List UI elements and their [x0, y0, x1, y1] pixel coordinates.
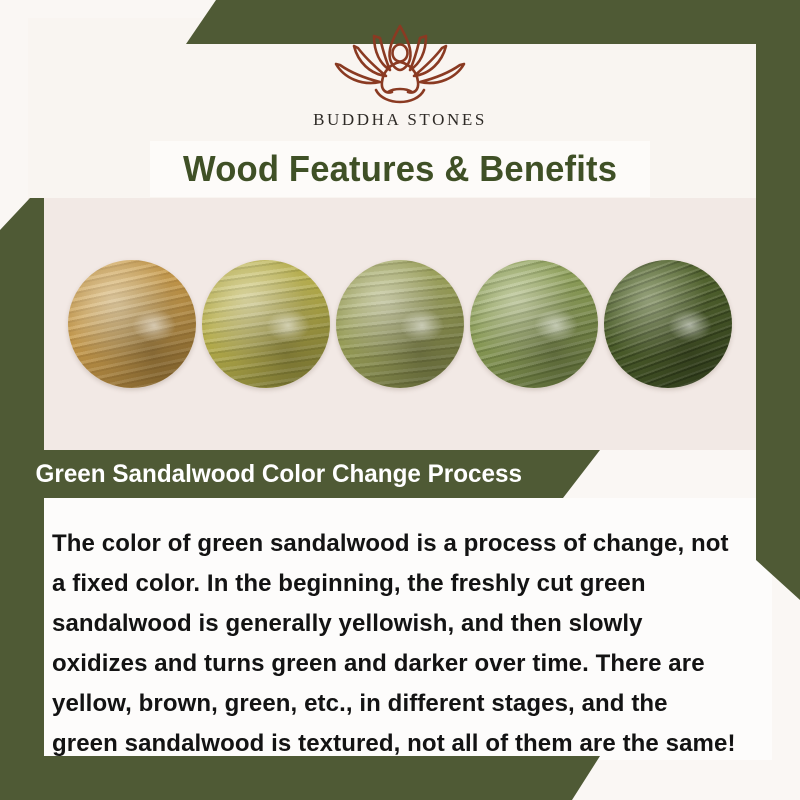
brand-logo: BUDDHA STONES — [0, 20, 800, 130]
section-title: Green Sandalwood Color Change Process — [36, 460, 522, 489]
bead-gallery — [28, 198, 772, 450]
bead-stage-2 — [202, 260, 330, 388]
bead-stage-3 — [336, 260, 464, 388]
bead-highlight — [668, 309, 712, 342]
bead-stage-1 — [68, 260, 196, 388]
page-title: Wood Features & Benefits — [183, 148, 617, 190]
section-banner: Green Sandalwood Color Change Process — [0, 450, 600, 498]
bead-highlight — [534, 309, 578, 342]
bead-highlight — [400, 309, 444, 342]
infographic-card: BUDDHA STONES Wood Features & Benefits — [0, 0, 800, 800]
bead-stage-5 — [604, 260, 732, 388]
bead-highlight — [266, 309, 310, 342]
lotus-meditation-figure-icon — [310, 20, 490, 108]
bead-highlight — [132, 309, 176, 342]
body-paragraph: The color of green sandalwood is a proce… — [52, 524, 738, 764]
brand-name: BUDDHA STONES — [313, 110, 487, 130]
page-title-banner: Wood Features & Benefits — [150, 141, 650, 197]
bead-stage-4 — [470, 260, 598, 388]
